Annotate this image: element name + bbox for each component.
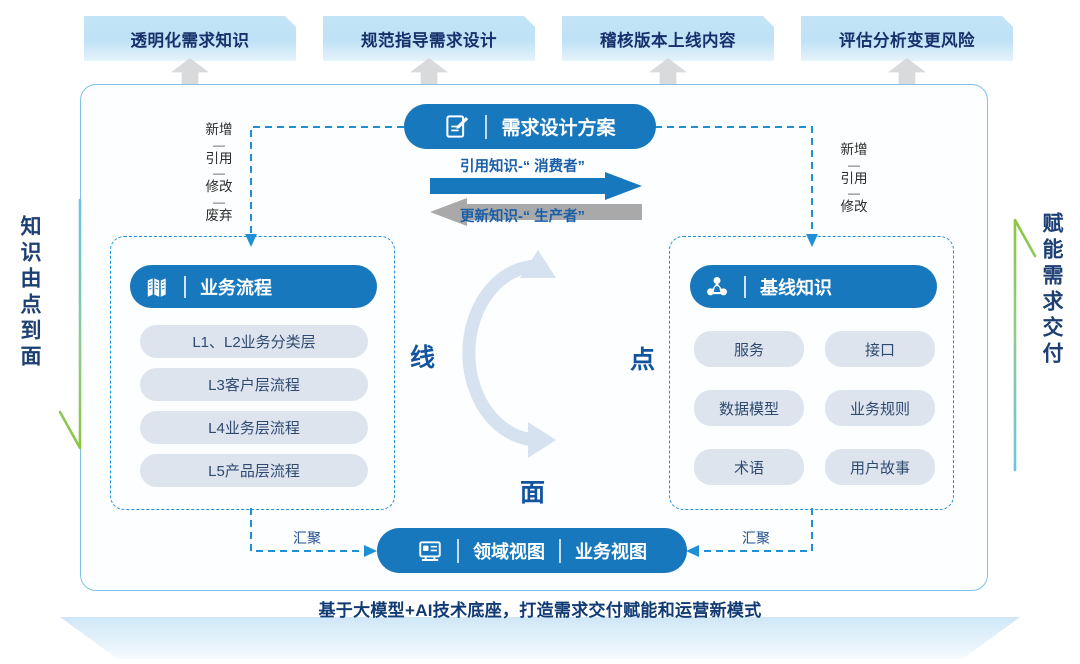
consume-flow-label: 引用知识-“ 消费者” xyxy=(460,155,585,176)
baseline-item-5[interactable]: 术语 xyxy=(694,449,804,485)
baseline-knowledge-title: 基线知识 xyxy=(760,274,832,300)
requirement-design-scheme-pill[interactable]: 需求设计方案 xyxy=(404,104,656,149)
tag-divider: — xyxy=(213,196,225,208)
view-pill-label-1: 领域视图 xyxy=(473,538,545,564)
baseline-item-4[interactable]: 业务规则 xyxy=(825,390,935,426)
tag-divider: — xyxy=(848,187,860,199)
plane-label: 面 xyxy=(520,473,545,509)
aggregate-right-label: 汇聚 xyxy=(742,528,770,548)
item-label: 服务 xyxy=(734,339,764,360)
tag-divider: — xyxy=(848,159,860,171)
right-tag-0: 新增 xyxy=(841,143,868,158)
business-process-header[interactable]: 业务流程 xyxy=(130,265,377,308)
tag-divider: — xyxy=(213,167,225,179)
item-label: L3客户层流程 xyxy=(208,374,300,395)
scheme-title: 需求设计方案 xyxy=(501,113,615,140)
right-tag-2: 修改 xyxy=(841,200,868,215)
item-label: 数据模型 xyxy=(719,398,779,419)
produce-flow-label: 更新知识-“ 生产者” xyxy=(460,205,585,226)
left-tag-2: 修改 xyxy=(206,180,233,195)
tagline: 基于大模型+AI技术底座，打造需求交付赋能和运营新模式 xyxy=(0,596,1080,621)
business-process-title: 业务流程 xyxy=(200,274,272,300)
right-tag-1: 引用 xyxy=(841,172,868,187)
left-tag-1: 引用 xyxy=(206,152,233,167)
right-action-tags: 新增 — 引用 — 修改 xyxy=(833,143,875,215)
business-process-item-2[interactable]: L3客户层流程 xyxy=(140,368,368,401)
recycle-node-icon xyxy=(704,274,730,300)
business-process-item-4[interactable]: L5产品层流程 xyxy=(140,454,368,487)
item-label: 接口 xyxy=(865,339,895,360)
document-pen-icon xyxy=(444,113,471,140)
view-pill[interactable]: 领域视图 业务视图 xyxy=(377,528,687,573)
tagline-suffix: +AI技术底座，打造需求交付赋能和运营新模式 xyxy=(405,601,762,620)
view-pill-label-2: 业务视图 xyxy=(575,538,647,564)
baseline-item-3[interactable]: 数据模型 xyxy=(694,390,804,426)
left-tag-3: 废弃 xyxy=(206,209,233,224)
cycle-arrow-icon xyxy=(460,248,620,463)
item-label: 业务规则 xyxy=(850,398,910,419)
left-tag-0: 新增 xyxy=(206,123,233,138)
baseline-knowledge-header[interactable]: 基线知识 xyxy=(690,265,937,308)
item-label: L4业务层流程 xyxy=(208,417,300,438)
item-label: 术语 xyxy=(734,457,764,478)
item-label: L5产品层流程 xyxy=(208,460,300,481)
point-label: 点 xyxy=(630,340,655,376)
tagline-strong: 大模型 xyxy=(353,601,405,620)
aggregate-left-label: 汇聚 xyxy=(293,528,321,548)
business-process-item-1[interactable]: L1、L2业务分类层 xyxy=(140,325,368,358)
line-label: 线 xyxy=(410,338,435,374)
item-label: 用户故事 xyxy=(850,457,910,478)
bottom-base-shape xyxy=(60,617,1020,659)
left-action-tags: 新增 — 引用 — 修改 — 废弃 xyxy=(198,123,240,223)
item-label: L1、L2业务分类层 xyxy=(192,331,315,352)
tag-divider: — xyxy=(213,139,225,151)
board-view-icon xyxy=(417,538,443,564)
map-book-icon xyxy=(144,274,170,300)
baseline-item-1[interactable]: 服务 xyxy=(694,331,804,367)
business-process-item-3[interactable]: L4业务层流程 xyxy=(140,411,368,444)
baseline-item-6[interactable]: 用户故事 xyxy=(825,449,935,485)
baseline-item-2[interactable]: 接口 xyxy=(825,331,935,367)
diagram-canvas: 透明化需求知识 规范指导需求设计 稽核版本上线内容 评估分析变更风险 知识由点到… xyxy=(0,0,1080,664)
tagline-prefix: 基于 xyxy=(318,601,353,620)
